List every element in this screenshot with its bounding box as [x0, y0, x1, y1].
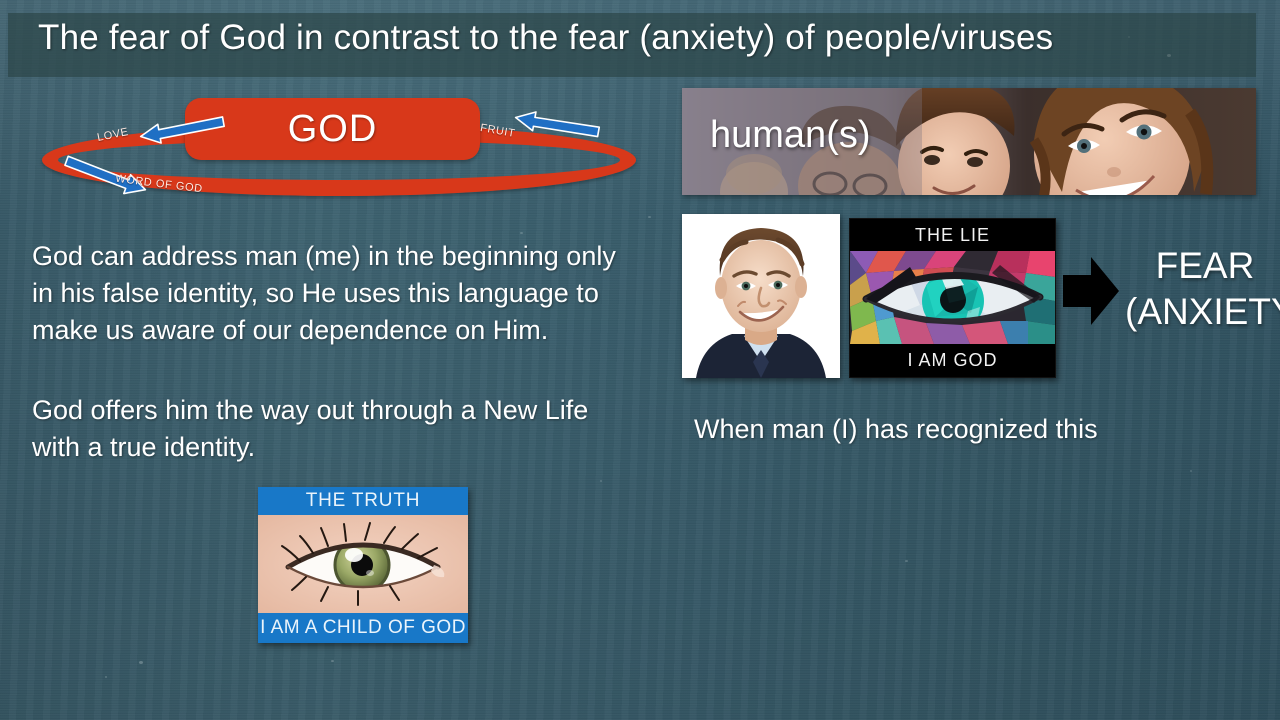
- polygonal-eye-image: [850, 251, 1055, 344]
- arrow-left-icon: [515, 114, 601, 136]
- page-title: The fear of God in contrast to the fear …: [38, 17, 1053, 59]
- lie-card-bottom-label: I AM GOD: [850, 344, 1055, 377]
- man-portrait: [682, 214, 840, 378]
- background-speck: [1190, 470, 1192, 472]
- background-speck: [520, 232, 523, 234]
- truth-card-bottom-label: I AM A CHILD OF GOD: [258, 613, 468, 643]
- background-speck: [600, 480, 602, 482]
- fear-label-line-1: FEAR: [1125, 243, 1280, 289]
- background-speck: [105, 676, 107, 678]
- lie-card: THE LIE: [849, 218, 1056, 378]
- recognition-caption: When man (I) has recognized this: [694, 414, 1098, 445]
- arrow-left-icon: [140, 118, 226, 140]
- god-label: GOD: [288, 108, 378, 151]
- fear-label-line-2: (ANXIETY): [1125, 289, 1280, 335]
- background-speck: [331, 660, 334, 662]
- background-speck: [648, 216, 651, 218]
- fear-label-group: FEAR (ANXIETY): [1125, 243, 1280, 335]
- background-speck: [905, 560, 908, 562]
- block-arrow-right-icon: [1063, 255, 1119, 327]
- body-paragraph-2: God offers him the way out through a New…: [32, 392, 642, 466]
- lie-card-top-label: THE LIE: [850, 219, 1055, 251]
- god-box: GOD: [185, 98, 480, 160]
- truth-card: THE TRUTH: [258, 487, 468, 643]
- humans-photo-band: human(s): [682, 88, 1256, 195]
- god-cycle-diagram: GOD LOVE WORD OF GOD FRUIT: [40, 92, 650, 207]
- humans-label: human(s): [710, 114, 871, 157]
- slide-canvas: The fear of God in contrast to the fear …: [0, 0, 1280, 720]
- background-speck: [139, 661, 143, 664]
- green-eye-image: [258, 515, 468, 613]
- body-paragraph-1: God can address man (me) in the beginnin…: [32, 238, 642, 349]
- truth-card-top-label: THE TRUTH: [258, 487, 468, 515]
